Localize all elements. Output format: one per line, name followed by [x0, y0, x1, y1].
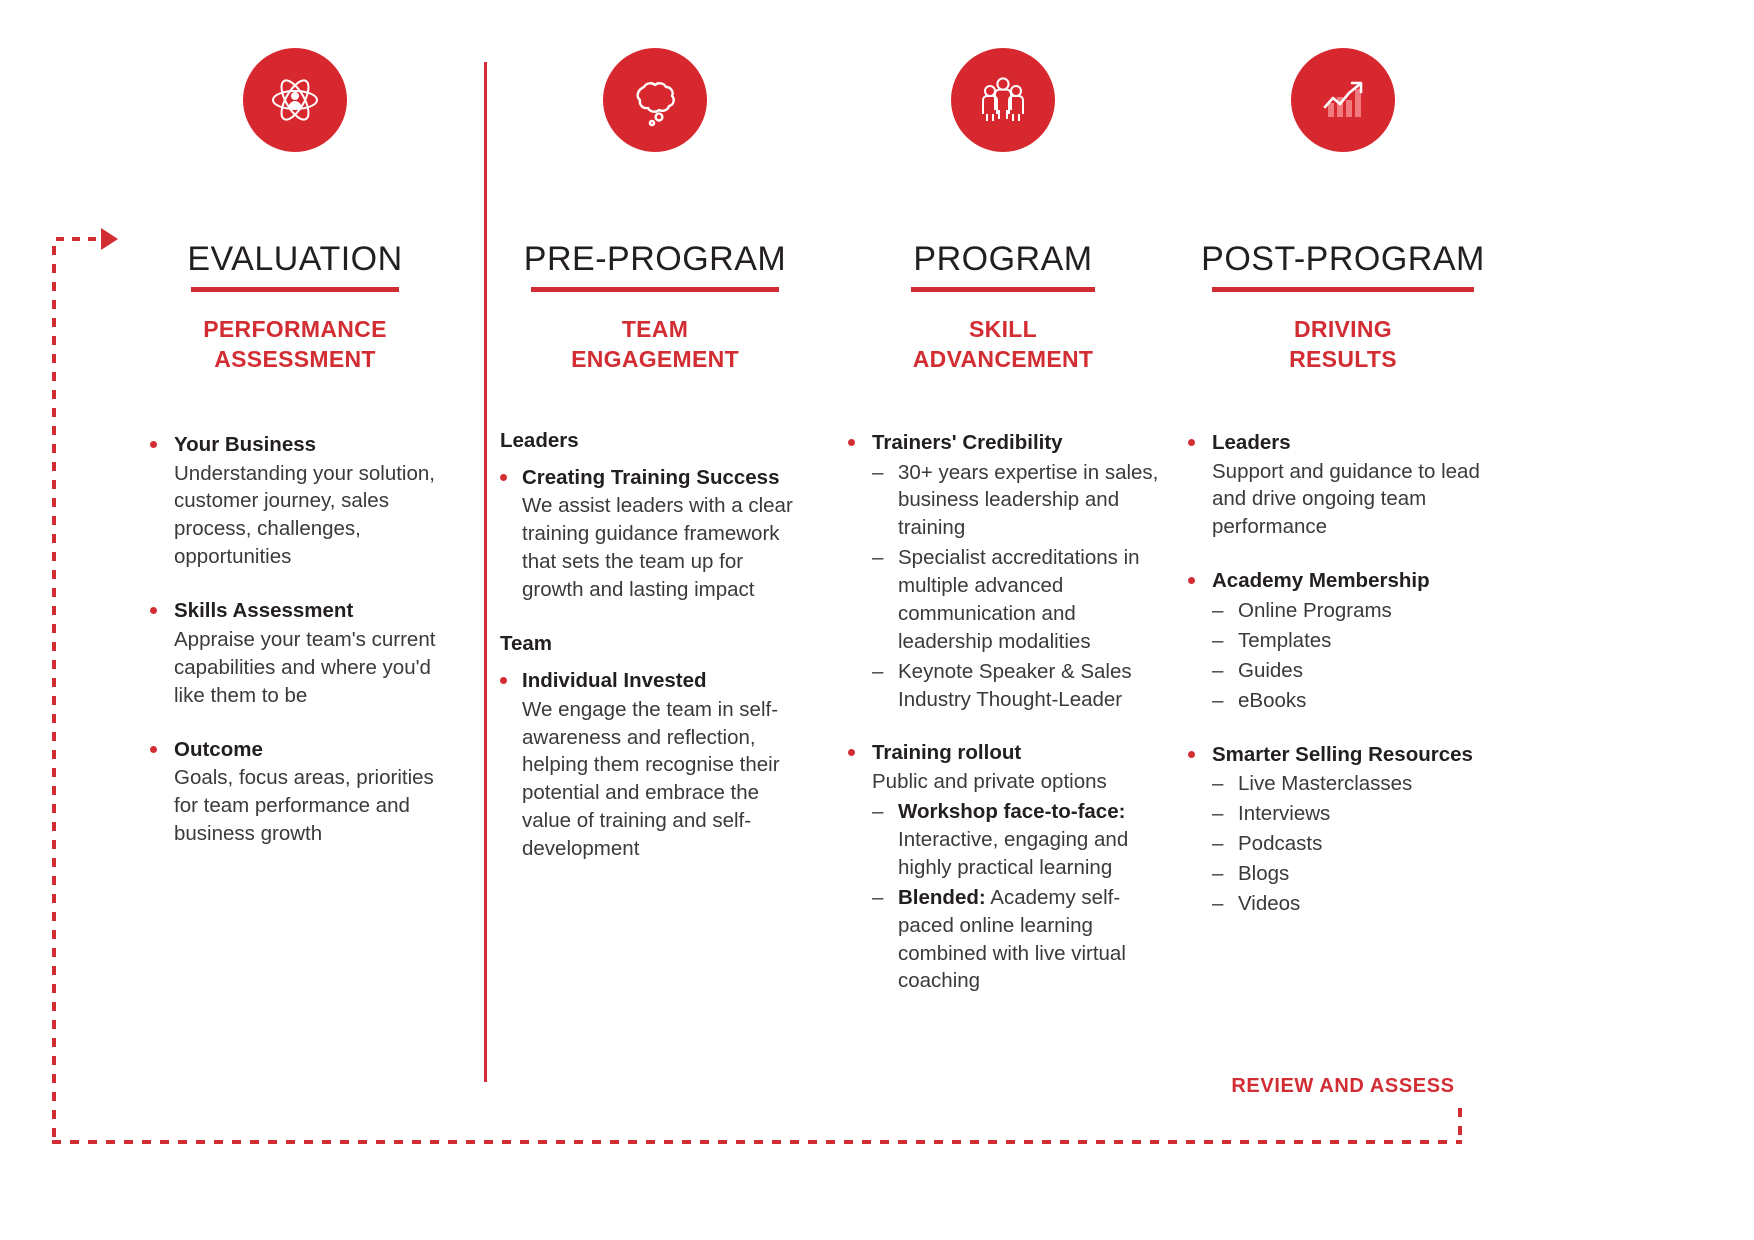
sub-list-item: Templates [1212, 627, 1508, 655]
title-underline [531, 287, 779, 292]
stage-body: Trainers' Credibility 30+ years expertis… [838, 429, 1168, 996]
title-underline [1212, 287, 1474, 292]
title-underline [911, 287, 1095, 292]
sub-list-item-label: Workshop face-to-face: [898, 800, 1125, 823]
stage-subtitle-line2: ENGAGEMENT [500, 344, 810, 374]
sub-list-item: Live Masterclasses [1212, 770, 1508, 798]
stage-subtitle-line2: ASSESSMENT [140, 344, 450, 374]
bullet-title: Trainers' Credibility [872, 429, 1168, 457]
bullet-title: Training rollout [872, 739, 1168, 767]
stage-title: POST-PROGRAM [1178, 240, 1508, 279]
thought-bubble-icon [603, 48, 707, 152]
bullet-description: Public and private options [872, 768, 1168, 796]
sub-list-item: Blogs [1212, 860, 1508, 888]
stage-subtitle-line1: SKILL [838, 314, 1168, 344]
bullet-title: Smarter Selling Resources [1212, 741, 1508, 769]
list-item: Your Business Understanding your solutio… [140, 431, 450, 571]
icon-container [500, 48, 810, 168]
sub-list-item-text: Interactive, engaging and highly practic… [898, 828, 1128, 879]
icon-container [838, 48, 1168, 168]
stage-subtitle-line1: TEAM [500, 314, 810, 344]
list-item: Creating Training Success We assist lead… [500, 464, 810, 604]
sub-list-item: Blended: Academy self-paced online learn… [872, 884, 1168, 996]
loop-dotted-top [56, 237, 104, 241]
list-item: Smarter Selling Resources Live Mastercla… [1178, 741, 1508, 918]
stage-subtitle-line2: RESULTS [1178, 344, 1508, 374]
sub-list: Online Programs Templates Guides eBooks [1212, 597, 1508, 715]
bullet-title: Academy Membership [1212, 567, 1508, 595]
bullet-description: Appraise your team's current capabilitie… [174, 626, 450, 710]
bullet-title: Creating Training Success [522, 464, 810, 492]
icon-container [140, 48, 450, 168]
bullet-title: Outcome [174, 736, 450, 764]
group-heading: Leaders [500, 427, 810, 455]
list-item: Skills Assessment Appraise your team's c… [140, 597, 450, 710]
stage-body: Leaders Creating Training Success We ass… [500, 427, 810, 863]
sub-list: 30+ years expertise in sales, business l… [872, 459, 1168, 714]
infographic-canvas: EVALUATION PERFORMANCE ASSESSMENT Your B… [0, 0, 1754, 1240]
bullet-title: Individual Invested [522, 667, 810, 695]
group-heading: Team [500, 630, 810, 658]
bullet-description: Goals, focus areas, priorities for team … [174, 764, 450, 848]
sub-list: Workshop face-to-face: Interactive, enga… [872, 798, 1168, 995]
stage-title: PROGRAM [838, 240, 1168, 279]
bullet-description: We assist leaders with a clear training … [522, 492, 810, 604]
list-item: Training rollout Public and private opti… [838, 739, 1168, 995]
bullet-title: Your Business [174, 431, 450, 459]
bullet-description: We engage the team in self-awareness and… [522, 696, 810, 863]
sub-list-item: eBooks [1212, 687, 1508, 715]
stage-body: Your Business Understanding your solutio… [140, 431, 450, 848]
stage-subtitle: PERFORMANCE ASSESSMENT [140, 314, 450, 375]
stage-subtitle: DRIVING RESULTS [1178, 314, 1508, 375]
growth-chart-icon [1291, 48, 1395, 152]
stage-subtitle: TEAM ENGAGEMENT [500, 314, 810, 375]
sub-list-item: Guides [1212, 657, 1508, 685]
stage-column-pre-program: PRE-PROGRAM TEAM ENGAGEMENT Leaders Crea… [500, 48, 810, 863]
stage-title: EVALUATION [140, 240, 450, 279]
stage-subtitle-line1: DRIVING [1178, 314, 1508, 344]
sub-list-item: Online Programs [1212, 597, 1508, 625]
stage-body: Leaders Support and guidance to lead and… [1178, 429, 1508, 918]
loop-dotted-bottom [52, 1140, 1462, 1144]
stage-subtitle-line1: PERFORMANCE [140, 314, 450, 344]
list-item: Outcome Goals, focus areas, priorities f… [140, 736, 450, 849]
list-item: Trainers' Credibility 30+ years expertis… [838, 429, 1168, 714]
stage-column-program: PROGRAM SKILL ADVANCEMENT Trainers' Cred… [838, 48, 1168, 997]
list-item: Leaders Support and guidance to lead and… [1178, 429, 1508, 542]
stage-column-post-program: POST-PROGRAM DRIVING RESULTS Leaders Sup… [1178, 48, 1508, 920]
sub-list: Live Masterclasses Interviews Podcasts B… [1212, 770, 1508, 917]
three-people-icon [951, 48, 1055, 152]
bullet-description: Support and guidance to lead and drive o… [1212, 458, 1508, 542]
loop-arrow-icon [101, 228, 118, 250]
bullet-title: Skills Assessment [174, 597, 450, 625]
stage-subtitle: SKILL ADVANCEMENT [838, 314, 1168, 375]
sub-list-item: 30+ years expertise in sales, business l… [872, 459, 1168, 543]
list-item: Individual Invested We engage the team i… [500, 667, 810, 863]
sub-list-item: Workshop face-to-face: Interactive, enga… [872, 798, 1168, 882]
stage-column-evaluation: EVALUATION PERFORMANCE ASSESSMENT Your B… [140, 48, 450, 848]
icon-container [1178, 48, 1508, 168]
sub-list-item: Podcasts [1212, 830, 1508, 858]
loop-dotted-left [52, 246, 56, 1144]
bullet-description: Understanding your solution, customer jo… [174, 460, 450, 572]
sub-list-item-label: Blended: [898, 886, 986, 909]
bullet-title: Leaders [1212, 429, 1508, 457]
sub-list-item: Specialist accreditations in multiple ad… [872, 544, 1168, 656]
review-and-assess-label: REVIEW AND ASSESS [1178, 1075, 1508, 1098]
title-underline [191, 287, 399, 292]
stage-subtitle-line2: ADVANCEMENT [838, 344, 1168, 374]
sub-list-item: Videos [1212, 890, 1508, 918]
sub-list-item: Interviews [1212, 800, 1508, 828]
loop-dotted-right [1458, 1108, 1462, 1144]
list-item: Academy Membership Online Programs Templ… [1178, 567, 1508, 714]
column-divider [484, 62, 487, 1082]
stage-title: PRE-PROGRAM [500, 240, 810, 279]
sub-list-item: Keynote Speaker & Sales Industry Thought… [872, 658, 1168, 714]
atom-person-icon [243, 48, 347, 152]
